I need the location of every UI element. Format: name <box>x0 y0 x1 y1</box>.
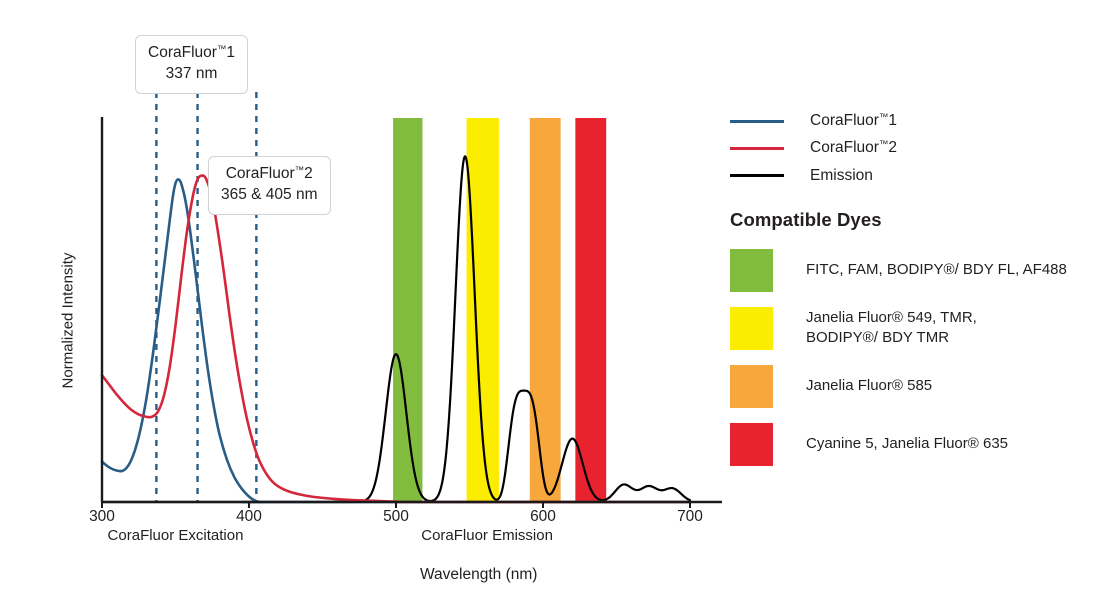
dye-color-swatch <box>730 249 773 292</box>
x-axis-section-label-excitation: CoraFluor Excitation <box>108 527 244 544</box>
x-tick-label-600: 600 <box>530 508 556 526</box>
dye-color-swatch <box>730 423 773 466</box>
emission-band-2 <box>530 118 561 502</box>
legend-item[interactable]: Emission <box>728 162 1100 189</box>
trademark-symbol: ™ <box>217 44 227 55</box>
compatible-dyes-heading: Compatible Dyes <box>730 209 1100 231</box>
legend-item-label: CoraFluor™2 <box>810 139 897 157</box>
dye-label: Janelia Fluor® 549, TMR,BODIPY®/ BDY TMR <box>806 308 977 349</box>
legend-item[interactable]: CoraFluor™2 <box>728 135 1100 162</box>
chart-figure: CoraFluor™1 337 nm CoraFluor™2 365 & 405… <box>0 0 1110 612</box>
compatible-dye-item[interactable]: Cyanine 5, Janelia Fluor® 635 <box>728 419 1100 469</box>
compatible-dyes-list: FITC, FAM, BODIPY®/ BDY FL, AF488Janelia… <box>728 245 1100 469</box>
legend-line-swatch <box>730 174 784 177</box>
legend-item-label: CoraFluor™1 <box>810 112 897 130</box>
legend-line-swatch <box>730 147 784 150</box>
callout-corafluor-1: CoraFluor™1 337 nm <box>135 35 248 94</box>
compatible-dye-item[interactable]: Janelia Fluor® 549, TMR,BODIPY®/ BDY TMR <box>728 303 1100 353</box>
trademark-symbol: ™ <box>879 139 889 150</box>
legend-line-swatch <box>730 120 784 123</box>
y-axis-title: Normalized Intensity <box>60 221 77 421</box>
dye-label: FITC, FAM, BODIPY®/ BDY FL, AF488 <box>806 260 1067 280</box>
dye-label: Janelia Fluor® 585 <box>806 376 932 396</box>
emission-band-3 <box>575 118 606 502</box>
series-legend: CoraFluor™1CoraFluor™2Emission <box>728 108 1100 189</box>
callout-1-line1: CoraFluor™1 <box>148 43 235 64</box>
dye-color-swatch <box>730 307 773 350</box>
emission-band-0 <box>393 118 422 502</box>
callout-1-line2: 337 nm <box>148 64 235 85</box>
x-axis-title: Wavelength (nm) <box>420 566 537 584</box>
x-tick-label-700: 700 <box>677 508 703 526</box>
x-tick-label-300: 300 <box>89 508 115 526</box>
trademark-symbol: ™ <box>295 165 305 176</box>
dye-color-swatch <box>730 365 773 408</box>
callout-2-line2: 365 & 405 nm <box>221 185 318 206</box>
compatible-dye-item[interactable]: FITC, FAM, BODIPY®/ BDY FL, AF488 <box>728 245 1100 295</box>
dye-label: Cyanine 5, Janelia Fluor® 635 <box>806 434 1008 454</box>
callout-corafluor-2: CoraFluor™2 365 & 405 nm <box>208 156 331 215</box>
compatible-dye-item[interactable]: Janelia Fluor® 585 <box>728 361 1100 411</box>
x-axis-section-label-emission: CoraFluor Emission <box>421 527 553 544</box>
x-tick-label-500: 500 <box>383 508 409 526</box>
trademark-symbol: ™ <box>879 112 889 123</box>
callout-2-line1: CoraFluor™2 <box>221 164 318 185</box>
legend-item-label: Emission <box>810 167 873 185</box>
x-tick-label-400: 400 <box>236 508 262 526</box>
chart-legend-panel: CoraFluor™1CoraFluor™2Emission Compatibl… <box>728 108 1100 477</box>
legend-item[interactable]: CoraFluor™1 <box>728 108 1100 135</box>
